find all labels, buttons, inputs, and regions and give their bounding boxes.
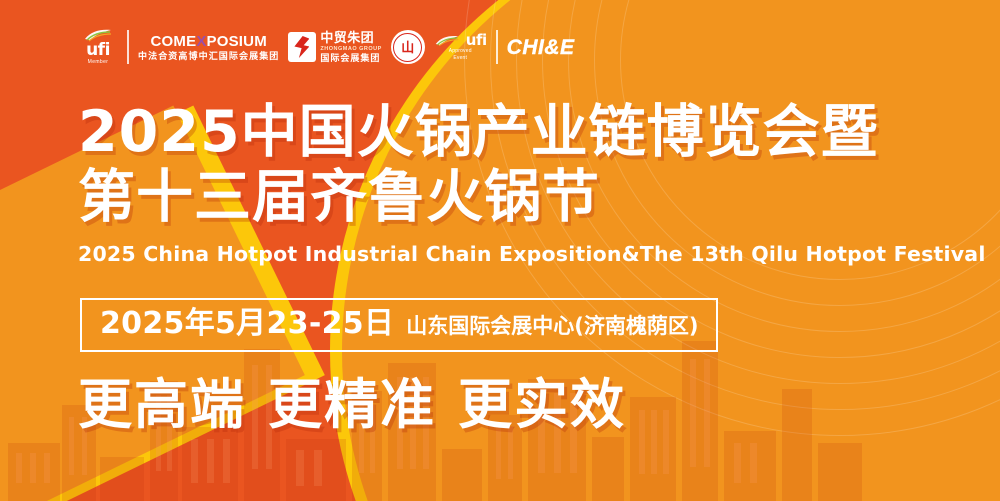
logo-divider-2 — [496, 30, 498, 64]
shandong-seal-glyph: 山 — [401, 41, 414, 54]
english-subtitle: 2025 China Hotpot Industrial Chain Expos… — [78, 242, 928, 266]
comexposium-wordmark: COMEXPOSIUM — [151, 34, 267, 49]
ufi-member-sublabel: Member — [88, 59, 109, 66]
ufi-member-logo: ufi Member — [78, 29, 118, 66]
event-date: 2025年5月23-25日 — [100, 309, 394, 339]
slogan-part-1: 更高端 — [78, 373, 246, 436]
ufi-approved-row: ufi — [434, 33, 487, 48]
zhongmao-text-block: 中贸朱团 ZHONGMAO GROUP 国际会展集团 — [320, 31, 381, 63]
chise-logo: CHI&E — [507, 37, 575, 58]
comexposium-logo: COMEXPOSIUM 中法合资高博中汇国际会展集团 — [138, 34, 279, 61]
slogan-part-3: 更实效 — [458, 373, 626, 436]
comexposium-word-part2: POSIUM — [207, 33, 267, 50]
ufi-approved-sublabel-2: Event — [453, 55, 467, 61]
ufi-approved-wing-icon — [434, 35, 464, 48]
event-venue: 山东国际会展中心(济南槐荫区) — [406, 316, 698, 337]
zhongmao-emblem-icon — [288, 32, 316, 62]
comexposium-word-part1: COME — [151, 33, 197, 50]
zhongmao-english-name: ZHONGMAO GROUP — [320, 46, 381, 52]
zhongmao-group-logo: 中贸朱团 ZHONGMAO GROUP 国际会展集团 — [288, 31, 381, 63]
comexposium-chinese-name: 中法合资高博中汇国际会展集团 — [138, 52, 279, 61]
zhongmao-chinese-sub: 国际会展集团 — [320, 54, 381, 63]
ufi-approved-event-logo: ufi Approved Event — [434, 33, 487, 61]
ufi-wing-icon — [83, 29, 113, 42]
main-title-line1: 2025中国火锅产业链博览会暨 — [78, 100, 928, 165]
partner-logo-strip: ufi Member COMEXPOSIUM 中法合资高博中汇国际会展集团 中贸… — [78, 24, 575, 70]
zhongmao-chinese-name: 中贸朱团 — [320, 31, 381, 44]
shandong-seal-logo: 山 — [391, 30, 425, 64]
ufi-approved-wordmark: ufi — [466, 33, 487, 48]
logo-divider-1 — [127, 30, 129, 64]
event-banner: ufi Member COMEXPOSIUM 中法合资高博中汇国际会展集团 中贸… — [0, 0, 1000, 501]
event-slogan: 更高端更精准更实效 — [78, 378, 626, 432]
ufi-wordmark: ufi — [86, 42, 110, 59]
main-title-line2: 第十三届齐鲁火锅节 — [78, 165, 928, 230]
comexposium-x-glyph: X — [196, 33, 206, 50]
event-info-box: 2025年5月23-25日 山东国际会展中心(济南槐荫区) — [80, 298, 718, 352]
title-block: 2025中国火锅产业链博览会暨 第十三届齐鲁火锅节 2025 China Hot… — [78, 100, 928, 266]
slogan-part-2: 更精准 — [268, 373, 436, 436]
